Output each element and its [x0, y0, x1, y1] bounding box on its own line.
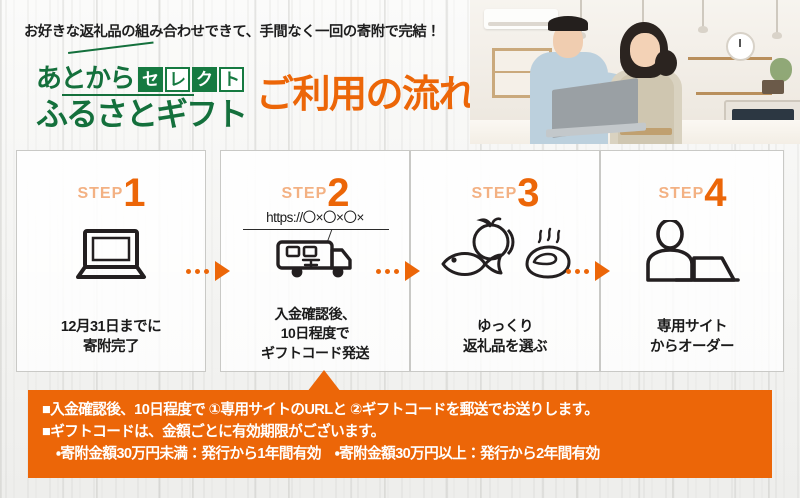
- step-3-word: STEP: [471, 185, 517, 202]
- step-2-caption-line-3: ギフトコード発送: [221, 344, 409, 363]
- laptop-icon: [17, 219, 205, 291]
- step-2-url-text: https://〇×〇×〇×: [221, 211, 409, 225]
- logo-furusato-gift-text: ふるさとギフト: [36, 98, 256, 132]
- steps-row: STEP1 12月31日までに 寄附完了 STEP2 https://〇×〇×〇…: [16, 150, 784, 372]
- logo-atokara-text: あとから: [36, 65, 134, 91]
- brand-logo: あとから セ レ ク ト ふるさとギフト: [36, 56, 256, 134]
- notice-panel: ■入金確認後、10日程度で ①専用サイトのURLと ②ギフトコードを郵送でお送り…: [28, 390, 772, 478]
- logo-select-boxes: セ レ ク ト: [138, 67, 244, 92]
- step-2-word: STEP: [281, 185, 327, 202]
- step-1-caption-line-2: 寄附完了: [17, 337, 205, 357]
- notice-line-1: ■入金確認後、10日程度で ①専用サイトのURLと ②ギフトコードを郵送でお送り…: [42, 399, 758, 421]
- promo-banner: お好きな返礼品の組み合わせできて、手間なく一回の寄附で完結！ あとから セ レ …: [0, 0, 800, 498]
- hero-photo: [470, 0, 800, 144]
- logo-select-char-2: レ: [165, 67, 190, 92]
- step-1-caption: 12月31日までに 寄附完了: [17, 317, 205, 357]
- logo-line-1: あとから セ レ ク ト: [36, 56, 256, 92]
- notice-line-3: ・寄附金額30万円未満：発行から1年間有効 ・寄附金額30万円以上：発行から2年…: [42, 443, 758, 465]
- page-tagline: お好きな返礼品の組み合わせできて、手間なく一回の寄附で完結！: [24, 20, 474, 41]
- air-conditioner: [484, 9, 558, 29]
- step-4-label: STEP4: [601, 173, 783, 213]
- step-1-label: STEP1: [17, 173, 205, 213]
- step-4-number: 4: [704, 171, 725, 215]
- wall-shelf-lower: [696, 92, 772, 95]
- step-4-caption: 専用サイト からオーダー: [601, 317, 783, 357]
- step-connector-arrow-1: [186, 262, 230, 280]
- step-3-caption-line-1: ゆっくり: [411, 317, 599, 337]
- step-4-caption-line-1: 専用サイト: [601, 317, 783, 337]
- step-4-caption-line-2: からオーダー: [601, 337, 783, 357]
- step-4-word: STEP: [658, 185, 704, 202]
- step-2-caption-line-2: 10日程度で: [221, 324, 409, 343]
- flow-title: ご利用の流れ: [256, 76, 475, 114]
- step-card-4: STEP4 専用サイト からオーダー: [600, 150, 784, 372]
- step-connector-arrow-2: [376, 262, 420, 280]
- notice-line-2: ■ギフトコードは、金額ごとに有効期限がございます。: [42, 421, 758, 443]
- pendant-lamp-4: [776, 0, 778, 34]
- step-2-caption: 入金確認後、 10日程度で ギフトコード発送: [221, 305, 409, 363]
- step-3-label: STEP3: [411, 173, 599, 213]
- step-2-number: 2: [327, 171, 348, 215]
- wall-clock: [726, 32, 755, 61]
- step-card-2: STEP2 https://〇×〇×〇× 入金確認後、 10日程度で: [220, 150, 410, 372]
- step-1-number: 1: [123, 171, 144, 215]
- logo-underline-decoration: [62, 94, 194, 96]
- step-3-caption: ゆっくり 返礼品を選ぶ: [411, 317, 599, 357]
- pendant-lamp-3: [702, 0, 704, 28]
- step-2-label: STEP2: [221, 173, 409, 213]
- notice-pointer-tab: [307, 370, 341, 392]
- step-connector-arrow-3: [566, 262, 610, 280]
- food-items-icon: [411, 215, 599, 293]
- step-1-caption-line-1: 12月31日までに: [17, 317, 205, 337]
- step-2-caption-line-1: 入金確認後、: [221, 305, 409, 324]
- step-1-word: STEP: [77, 185, 123, 202]
- step-3-number: 3: [517, 171, 538, 215]
- person-at-laptop-icon: [601, 217, 783, 291]
- logo-select-char-1: セ: [138, 67, 163, 92]
- logo-select-char-4: ト: [219, 67, 244, 92]
- logo-select-char-3: ク: [192, 67, 217, 92]
- potted-plant: [770, 58, 792, 82]
- step-3-caption-line-2: 返礼品を選ぶ: [411, 337, 599, 357]
- step-card-1: STEP1 12月31日までに 寄附完了: [16, 150, 206, 372]
- step-card-3: STEP3: [410, 150, 600, 372]
